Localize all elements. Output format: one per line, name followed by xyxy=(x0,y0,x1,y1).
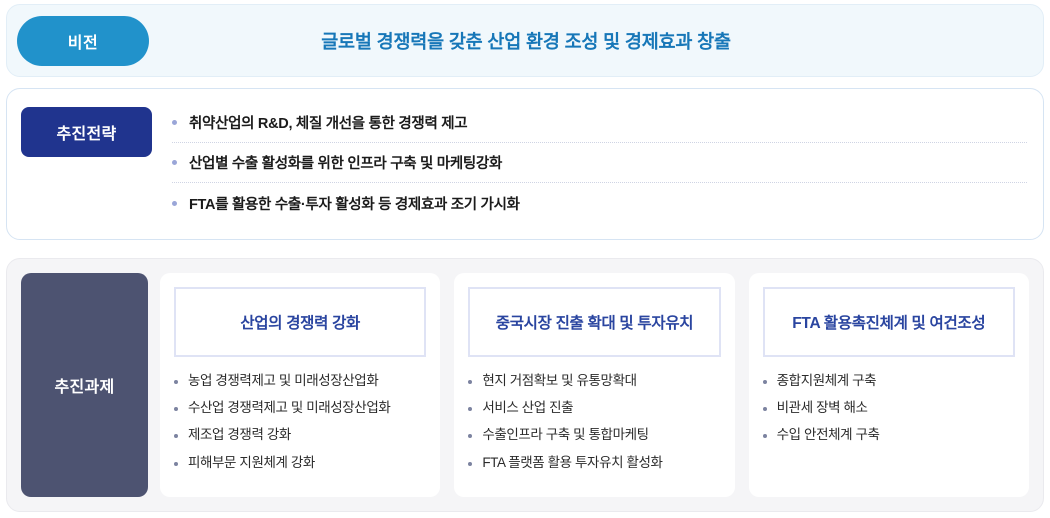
bullet-dot-icon xyxy=(174,407,178,411)
task-card-list: 농업 경쟁력제고 및 미래성장산업화 수산업 경쟁력제고 및 미래성장산업화 제… xyxy=(174,373,426,482)
task-section: 추진과제 산업의 경쟁력 강화 농업 경쟁력제고 및 미래성장산업화 수산업 경… xyxy=(6,258,1044,512)
task-list-item-label: 수출인프라 구축 및 통합마케팅 xyxy=(482,427,648,443)
task-list-item: 피해부문 지원체계 강화 xyxy=(174,455,426,471)
bullet-dot-icon xyxy=(763,434,767,438)
task-card-group: 산업의 경쟁력 강화 농업 경쟁력제고 및 미래성장산업화 수산업 경쟁력제고 … xyxy=(160,273,1029,497)
task-list-item-label: 비관세 장벽 해소 xyxy=(777,400,868,416)
strategy-section: 추진전략 취약산업의 R&D, 체질 개선을 통한 경쟁력 제고 산업별 수출 … xyxy=(6,88,1044,240)
task-list-item-label: 수입 안전체계 구축 xyxy=(777,427,880,443)
task-card-title: FTA 활용촉진체계 및 여건조성 xyxy=(763,287,1015,357)
task-list-item-label: FTA 플랫폼 활용 투자유치 활성화 xyxy=(482,455,662,471)
task-list-item: 제조업 경쟁력 강화 xyxy=(174,427,426,443)
task-card: 중국시장 진출 확대 및 투자유치 현지 거점확보 및 유통망확대 서비스 산업… xyxy=(454,273,734,497)
task-list-item: 수입 안전체계 구축 xyxy=(763,427,1015,443)
bullet-dot-icon xyxy=(172,120,177,125)
bullet-dot-icon xyxy=(468,407,472,411)
task-list-item-label: 농업 경쟁력제고 및 미래성장산업화 xyxy=(188,373,378,389)
bullet-dot-icon xyxy=(468,380,472,384)
bullet-dot-icon xyxy=(172,201,177,206)
task-list-item-label: 종합지원체계 구축 xyxy=(777,373,877,389)
task-list-item-label: 수산업 경쟁력제고 및 미래성장산업화 xyxy=(188,400,390,416)
task-list-item-label: 피해부문 지원체계 강화 xyxy=(188,455,315,471)
task-card: 산업의 경쟁력 강화 농업 경쟁력제고 및 미래성장산업화 수산업 경쟁력제고 … xyxy=(160,273,440,497)
task-card-list: 현지 거점확보 및 유통망확대 서비스 산업 진출 수출인프라 구축 및 통합마… xyxy=(468,373,720,482)
task-list-item-label: 현지 거점확보 및 유통망확대 xyxy=(482,373,636,389)
task-list-item: 현지 거점확보 및 유통망확대 xyxy=(468,373,720,389)
task-list-item: FTA 플랫폼 활용 투자유치 활성화 xyxy=(468,455,720,471)
task-card-list: 종합지원체계 구축 비관세 장벽 해소 수입 안전체계 구축 xyxy=(763,373,1015,455)
bullet-dot-icon xyxy=(172,160,177,165)
strategy-item: FTA를 활용한 수출·투자 활성화 등 경제효과 조기 가시화 xyxy=(172,183,1027,223)
strategy-diagram: 비전 글로벌 경쟁력을 갖춘 산업 환경 조성 및 경제효과 창출 추진전략 취… xyxy=(0,0,1050,518)
task-list-item-label: 제조업 경쟁력 강화 xyxy=(188,427,291,443)
strategy-badge: 추진전략 xyxy=(21,107,152,157)
strategy-item: 취약산업의 R&D, 체질 개선을 통한 경쟁력 제고 xyxy=(172,103,1027,143)
strategy-item-label: 취약산업의 R&D, 체질 개선을 통한 경쟁력 제고 xyxy=(189,112,467,133)
strategy-list: 취약산업의 R&D, 체질 개선을 통한 경쟁력 제고 산업별 수출 활성화를 … xyxy=(172,103,1027,223)
bullet-dot-icon xyxy=(468,462,472,466)
task-list-item: 비관세 장벽 해소 xyxy=(763,400,1015,416)
vision-banner: 비전 글로벌 경쟁력을 갖춘 산업 환경 조성 및 경제효과 창출 xyxy=(6,4,1044,77)
bullet-dot-icon xyxy=(174,380,178,384)
bullet-dot-icon xyxy=(763,380,767,384)
task-list-item: 수산업 경쟁력제고 및 미래성장산업화 xyxy=(174,400,426,416)
task-list-item-label: 서비스 산업 진출 xyxy=(482,400,573,416)
bullet-dot-icon xyxy=(468,434,472,438)
bullet-dot-icon xyxy=(174,434,178,438)
vision-title: 글로벌 경쟁력을 갖춘 산업 환경 조성 및 경제효과 창출 xyxy=(149,28,1043,54)
bullet-dot-icon xyxy=(763,407,767,411)
task-list-item: 종합지원체계 구축 xyxy=(763,373,1015,389)
task-list-item: 농업 경쟁력제고 및 미래성장산업화 xyxy=(174,373,426,389)
strategy-item-label: FTA를 활용한 수출·투자 활성화 등 경제효과 조기 가시화 xyxy=(189,193,520,214)
strategy-item-label: 산업별 수출 활성화를 위한 인프라 구축 및 마케팅강화 xyxy=(189,152,502,173)
task-card-title: 중국시장 진출 확대 및 투자유치 xyxy=(468,287,720,357)
strategy-item: 산업별 수출 활성화를 위한 인프라 구축 및 마케팅강화 xyxy=(172,143,1027,183)
task-card-title: 산업의 경쟁력 강화 xyxy=(174,287,426,357)
task-badge: 추진과제 xyxy=(21,273,148,497)
task-card: FTA 활용촉진체계 및 여건조성 종합지원체계 구축 비관세 장벽 해소 수입… xyxy=(749,273,1029,497)
task-list-item: 수출인프라 구축 및 통합마케팅 xyxy=(468,427,720,443)
vision-badge: 비전 xyxy=(17,16,149,66)
task-list-item: 서비스 산업 진출 xyxy=(468,400,720,416)
bullet-dot-icon xyxy=(174,462,178,466)
